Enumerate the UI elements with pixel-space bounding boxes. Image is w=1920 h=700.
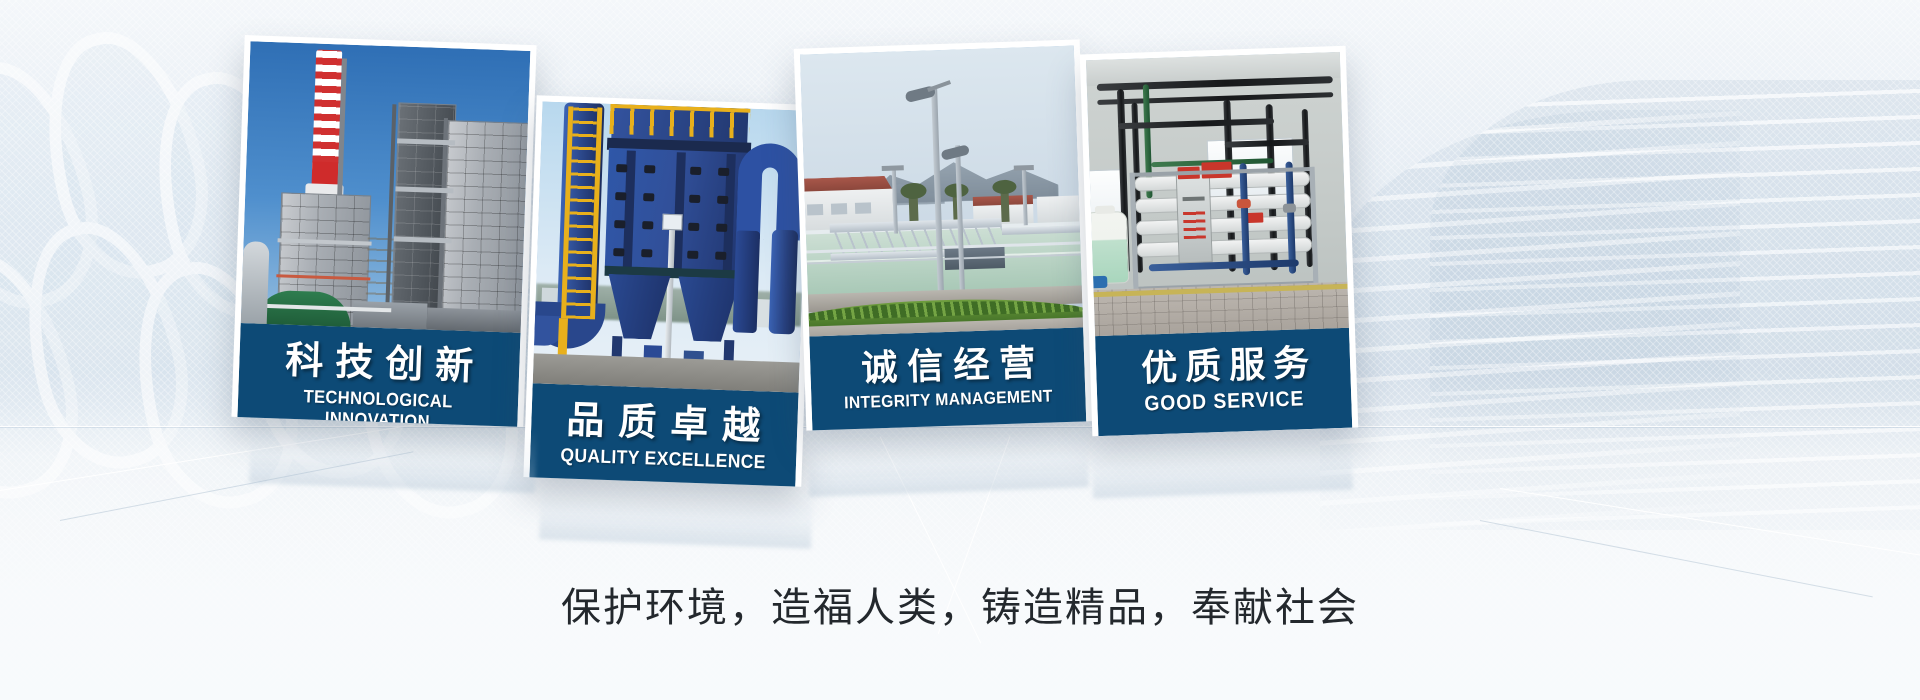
value-panel-technological-innovation[interactable]: 科技创新 TECHNOLOGICAL INNOVATION [231,35,536,427]
wastewater-treatment-plant-photo [800,46,1083,337]
panel-reflection [249,419,537,493]
panel-title-en: QUALITY EXCELLENCE [544,444,782,474]
panel-title-cn: 优质服务 [1100,342,1347,392]
banner-stage: 科技创新 TECHNOLOGICAL INNOVATION [0,0,1920,700]
panel-inner: 品质卓越 QUALITY EXCELLENCE [529,101,808,486]
desulfurization-towers-photo [241,41,531,333]
panel-inner: 科技创新 TECHNOLOGICAL INNOVATION [237,41,530,427]
panel-caption: 科技创新 TECHNOLOGICAL INNOVATION [237,323,520,427]
value-panel-integrity-management[interactable]: 诚信经营 INTEGRITY MANAGEMENT [794,39,1093,430]
value-panel-good-service[interactable]: 优质服务 GOOD SERVICE [1080,46,1359,437]
panel-reflection [1091,429,1353,498]
panel-inner: 优质服务 GOOD SERVICE [1086,52,1352,436]
panel-title-cn: 品质卓越 [535,397,794,450]
banner-tagline: 保护环境，造福人类，铸造精品，奉献社会 [0,575,1920,633]
panel-title-cn: 诚信经营 [814,342,1081,392]
value-panel-quality-excellence[interactable]: 品质卓越 QUALITY EXCELLENCE [523,95,814,486]
panel-reflection [807,423,1089,497]
panel-title-cn: 科技创新 [243,337,516,390]
panel-reflection [539,479,813,548]
panel-title-en: GOOD SERVICE [1111,387,1338,418]
panel-caption: 品质卓越 QUALITY EXCELLENCE [529,383,798,486]
panel-caption: 优质服务 GOOD SERVICE [1095,328,1352,436]
bag-filter-dust-collector-photo [533,101,809,392]
panel-title-en: INTEGRITY MANAGEMENT [826,386,1071,414]
reverse-osmosis-water-system-photo [1086,52,1349,336]
panel-caption: 诚信经营 INTEGRITY MANAGEMENT [809,327,1086,430]
panel-inner: 诚信经营 INTEGRITY MANAGEMENT [800,46,1086,431]
